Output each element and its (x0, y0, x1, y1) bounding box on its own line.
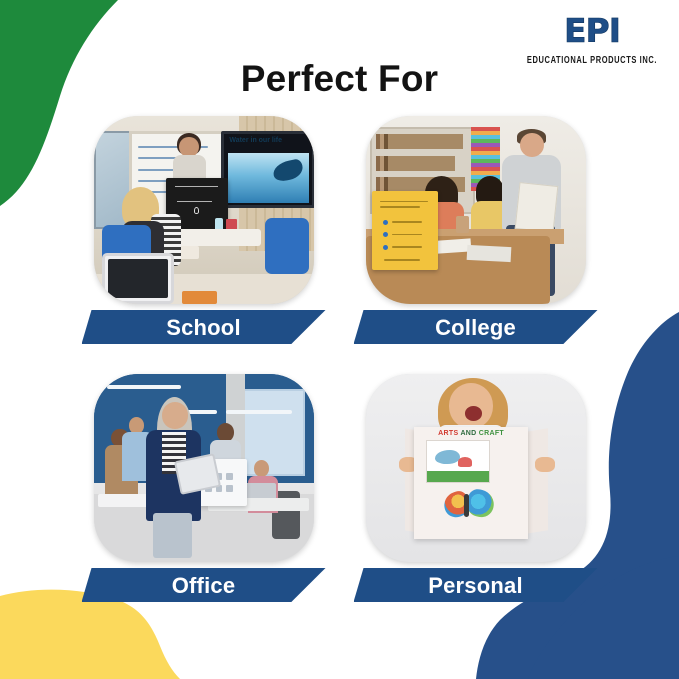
arts-and-craft-poster: ARTS AND CRAFT (414, 427, 528, 540)
category-row-bottom: Office (0, 374, 679, 608)
category-grid: Water in our life (0, 116, 679, 608)
category-row-top: Water in our life (0, 116, 679, 350)
personal-photo: ARTS AND CRAFT (366, 374, 586, 562)
category-card-personal[interactable]: ARTS AND CRAFT (366, 374, 586, 608)
school-photo: Water in our life (94, 116, 314, 304)
category-label-personal: Personal (428, 569, 523, 603)
category-card-office[interactable]: Office (94, 374, 314, 608)
office-photo (94, 374, 314, 562)
logo-mark: EPI (564, 14, 620, 47)
category-label-college: College (435, 311, 516, 345)
college-banner: College (366, 310, 586, 350)
category-label-school: School (166, 311, 241, 345)
personal-banner: Personal (366, 568, 586, 608)
school-banner: School (94, 310, 314, 350)
poster-word-craft: CRAFT (479, 430, 504, 437)
poster-title: ARTS AND CRAFT (414, 430, 528, 437)
page-title: Perfect For (0, 58, 679, 100)
butterfly-body (464, 494, 469, 517)
category-card-school[interactable]: Water in our life (94, 116, 314, 350)
office-banner: Office (94, 568, 314, 608)
school-scene: Water in our life (94, 116, 314, 304)
poster-sea-drawing (426, 440, 490, 483)
student-tablet (102, 253, 174, 304)
classroom-display: Water in our life (221, 131, 313, 208)
yellow-trifold-board (372, 191, 438, 270)
personal-scene: ARTS AND CRAFT (366, 374, 586, 562)
college-scene (366, 116, 586, 304)
category-card-college[interactable]: College (366, 116, 586, 350)
held-paper (515, 182, 559, 233)
college-photo (366, 116, 586, 304)
promo-graphic: EPI EDUCATIONAL PRODUCTS INC. Perfect Fo… (0, 0, 679, 679)
office-scene (94, 374, 314, 562)
poster-word-arts: ARTS (438, 430, 458, 437)
screen-title-text: Water in our life (229, 137, 282, 144)
category-label-office: Office (172, 569, 236, 603)
poster-word-and: AND (460, 430, 476, 437)
